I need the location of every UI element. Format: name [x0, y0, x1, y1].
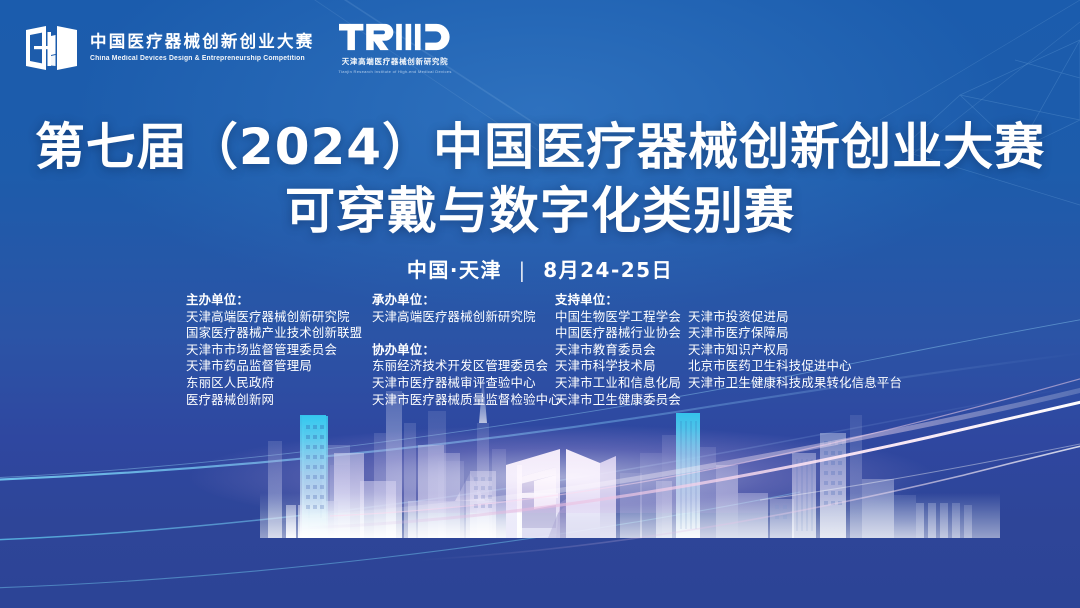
header-logos: 中国医疗器械创新创业大赛 China Medical Devices Desig…	[24, 22, 452, 74]
supporter-item: 中国医疗器械行业协会	[555, 325, 688, 342]
host-item: 天津市市场监督管理委员会	[186, 342, 372, 359]
supporter-item: 天津市医疗保障局	[688, 325, 898, 342]
organizer-column-organizer: 承办单位： 天津高端医疗器械创新研究院 协办单位： 东丽经济技术开发区管理委员会…	[372, 292, 555, 408]
horizon-glow	[0, 393, 1080, 513]
co-organizer-heading: 协办单位：	[372, 342, 555, 359]
host-item: 东丽区人民政府	[186, 375, 372, 392]
supporter-item: 天津市工业和信息化局	[555, 375, 688, 392]
supporter-item: 北京市医药卫生科技促进中心	[688, 358, 898, 375]
supporter-heading: 支持单位：	[555, 292, 688, 309]
supporter-item: 天津市投资促进局	[688, 309, 898, 326]
organizers-block: 主办单位： 天津高端医疗器械创新研究院 国家医疗器械产业技术创新联盟 天津市市场…	[186, 292, 960, 408]
subtitle-separator: |	[518, 258, 526, 282]
cmde-logo-en: China Medical Devices Design & Entrepren…	[90, 55, 308, 62]
open-door-logo-icon	[24, 24, 80, 72]
co-organizer-item: 东丽经济技术开发区管理委员会	[372, 358, 555, 375]
column-spacer	[372, 325, 555, 342]
page-title: 第七届（2024）中国医疗器械创新创业大赛 可穿戴与数字化类别赛	[0, 118, 1080, 240]
supporter-sub-column-a: 支持单位： 中国生物医学工程学会 中国医疗器械行业协会 天津市教育委员会 天津市…	[555, 292, 688, 408]
supporter-item: 天津市卫生健康委员会	[555, 392, 688, 409]
organizer-heading: 承办单位：	[372, 292, 555, 309]
subtitle-location-date: 中国·天津 | 8月24-25日	[0, 254, 1080, 283]
co-organizer-item: 天津市医疗器械审评查验中心	[372, 375, 555, 392]
event-poster: 中国医疗器械创新创业大赛 China Medical Devices Desig…	[0, 0, 1080, 608]
host-item: 天津高端医疗器械创新研究院	[186, 309, 372, 326]
trmd-logo-cn: 天津高端医疗器械创新研究院	[342, 56, 449, 67]
host-item: 医疗器械创新网	[186, 392, 372, 409]
subtitle-date: 8月24-25日	[543, 258, 673, 282]
cmde-logo-cn: 中国医疗器械创新创业大赛	[90, 34, 314, 51]
host-heading: 主办单位：	[186, 292, 372, 309]
co-organizer-item: 天津市医疗器械质量监督检验中心	[372, 392, 555, 409]
host-item: 国家医疗器械产业技术创新联盟	[186, 325, 372, 342]
open-door-monument	[506, 449, 616, 538]
supporter-item: 天津市知识产权局	[688, 342, 898, 359]
supporter-sub-column-b: 天津市投资促进局 天津市医疗保障局 天津市知识产权局 北京市医药卫生科技促进中心…	[688, 292, 898, 408]
supporter-item: 中国生物医学工程学会	[555, 309, 688, 326]
organizer-column-supporter: 支持单位： 中国生物医学工程学会 中国医疗器械行业协会 天津市教育委员会 天津市…	[555, 292, 898, 408]
trmd-logo-en: Tianjin Research Institute of High-end M…	[338, 69, 451, 74]
supporter-item: 天津市教育委员会	[555, 342, 688, 359]
supporter-item: 天津市科学技术局	[555, 358, 688, 375]
trmd-wordmark-icon	[339, 22, 452, 52]
title-line-2: 可穿戴与数字化类别赛	[0, 182, 1080, 240]
cmde-logo: 中国医疗器械创新创业大赛 China Medical Devices Desig…	[24, 24, 314, 72]
supporter-item: 天津市卫生健康科技成果转化信息平台	[688, 375, 898, 392]
organizer-column-host: 主办单位： 天津高端医疗器械创新研究院 国家医疗器械产业技术创新联盟 天津市市场…	[186, 292, 372, 408]
trmd-logo: 天津高端医疗器械创新研究院 Tianjin Research Institute…	[338, 22, 451, 74]
organizer-item: 天津高端医疗器械创新研究院	[372, 309, 555, 326]
subtitle-location: 中国·天津	[407, 258, 502, 282]
host-item: 天津市药品监督管理局	[186, 358, 372, 375]
title-line-1: 第七届（2024）中国医疗器械创新创业大赛	[0, 118, 1080, 176]
column-spacer	[688, 292, 898, 309]
